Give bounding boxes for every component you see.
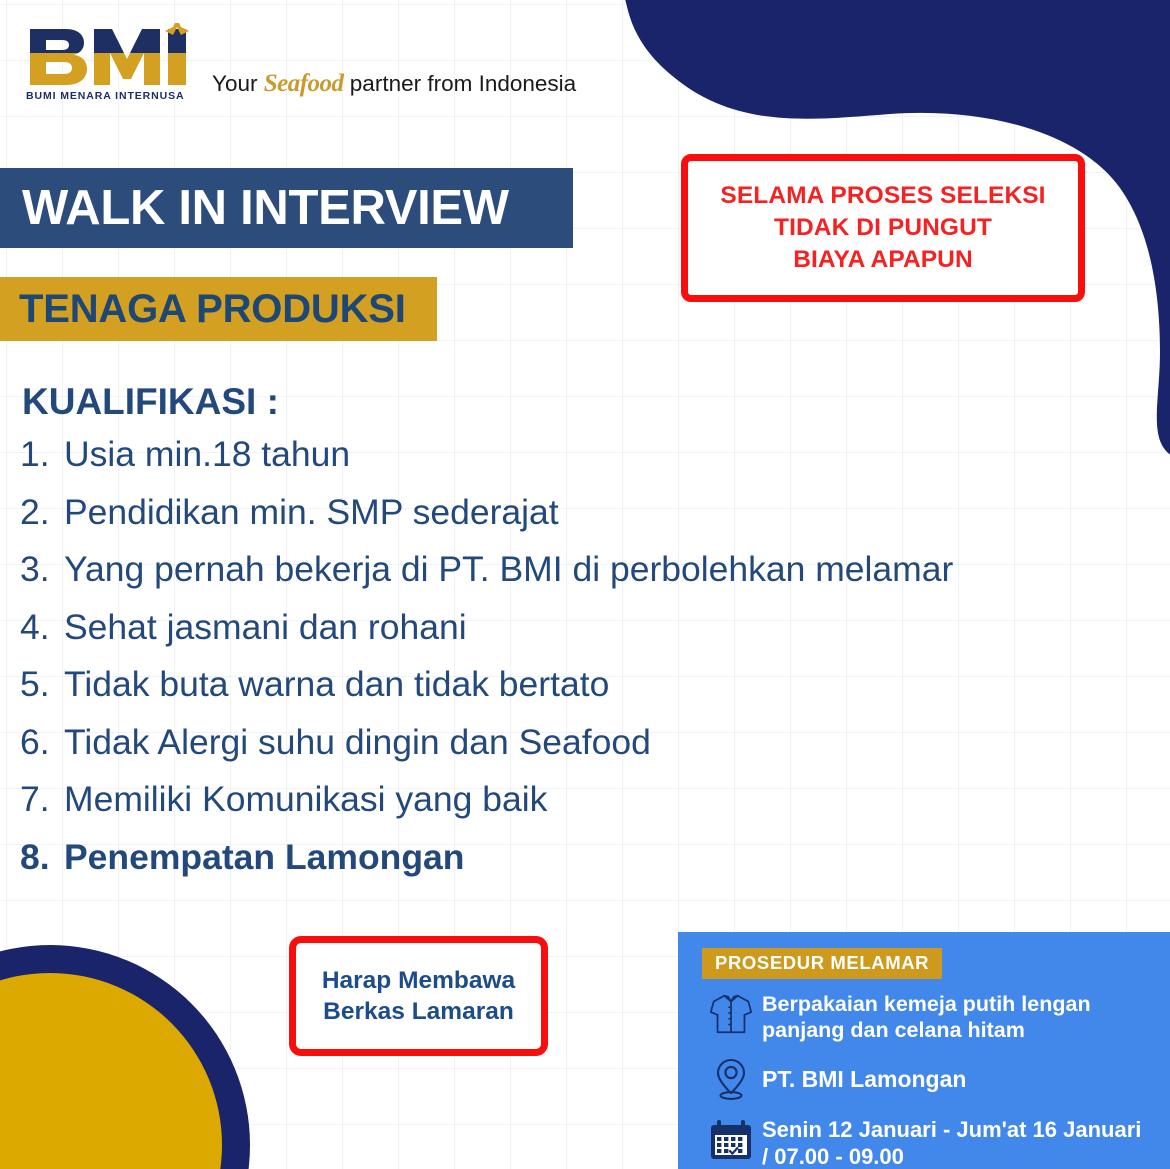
tagline-seafood: Seafood — [264, 70, 344, 97]
dresscode-line-1: Berpakaian kemeja putih lengan — [762, 991, 1091, 1017]
procedure-row-dresscode: Berpakaian kemeja putih lengan panjang d… — [692, 989, 1156, 1043]
qualification-item: 2. Pendidikan min. SMP sederajat — [20, 492, 1150, 550]
procedure-row-location: PT. BMI Lamongan — [692, 1056, 1156, 1102]
calendar-icon — [700, 1115, 762, 1163]
procedure-schedule-text: Senin 12 Januari - Jum'at 16 Januari / 0… — [762, 1115, 1141, 1169]
no-fee-notice: SELAMA PROSES SELEKSI TIDAK DI PUNGUT BI… — [681, 154, 1085, 302]
bring-documents-notice: Harap Membawa Berkas Lamaran — [289, 936, 548, 1056]
tagline-part-2: partner from Indonesia — [344, 71, 577, 96]
walk-in-interview-banner: WALK IN INTERVIEW — [0, 168, 573, 248]
brand-tagline: Your Seafood partner from Indonesia — [212, 70, 576, 98]
qualification-item: 1. Usia min.18 tahun — [20, 434, 1150, 492]
qualification-number: 5. — [20, 664, 64, 705]
qualification-text: Sehat jasmani dan rohani — [64, 607, 467, 648]
qualification-number: 7. — [20, 779, 64, 820]
qualification-text: Tidak buta warna dan tidak bertato — [64, 664, 609, 705]
qualifications-list: 1. Usia min.18 tahun 2. Pendidikan min. … — [20, 434, 1150, 894]
schedule-line-2: / 07.00 - 09.00 — [762, 1144, 1141, 1169]
procedure-location-text: PT. BMI Lamongan — [762, 1065, 966, 1093]
qualification-number: 4. — [20, 607, 64, 648]
qualification-item: 7. Memiliki Komunikasi yang baik — [20, 779, 1150, 837]
qualification-text: Penempatan Lamongan — [64, 837, 464, 878]
qualification-number: 6. — [20, 722, 64, 763]
procedure-row-schedule: Senin 12 Januari - Jum'at 16 Januari / 0… — [692, 1115, 1156, 1169]
procedure-dresscode-text: Berpakaian kemeja putih lengan panjang d… — [762, 989, 1091, 1043]
location-line-1: PT. BMI Lamongan — [762, 1065, 966, 1093]
qualification-item: 8. Penempatan Lamongan — [20, 837, 1150, 895]
bring-documents-line-1: Harap Membawa — [322, 965, 515, 996]
qualification-text: Pendidikan min. SMP sederajat — [64, 492, 559, 533]
procedure-title: PROSEDUR MELAMAR — [702, 948, 942, 979]
qualification-number: 2. — [20, 492, 64, 533]
no-fee-line-3: BIAYA APAPUN — [793, 244, 973, 276]
bmi-logo-mark — [26, 23, 194, 89]
tagline-part-1: Your — [212, 71, 264, 96]
qualification-item: 6. Tidak Alergi suhu dingin dan Seafood — [20, 722, 1150, 780]
qualification-number: 1. — [20, 434, 64, 475]
application-procedure-panel: PROSEDUR MELAMAR Berpakaian kemeja putih… — [678, 932, 1170, 1169]
qualification-number: 3. — [20, 549, 64, 590]
schedule-line-1: Senin 12 Januari - Jum'at 16 Januari — [762, 1117, 1141, 1144]
bmi-logo: BUMI MENARA INTERNUSA — [26, 23, 196, 102]
qualification-text: Tidak Alergi suhu dingin dan Seafood — [64, 722, 651, 763]
poster-header: BUMI MENARA INTERNUSA Your Seafood partn… — [0, 0, 620, 128]
position-banner: TENAGA PRODUKSI — [0, 277, 437, 341]
qualification-text: Yang pernah bekerja di PT. BMI di perbol… — [64, 549, 953, 590]
dresscode-line-2: panjang dan celana hitam — [762, 1017, 1091, 1043]
no-fee-line-2: TIDAK DI PUNGUT — [774, 212, 992, 244]
bring-documents-line-2: Berkas Lamaran — [323, 996, 514, 1027]
map-pin-icon — [700, 1056, 762, 1102]
qualification-item: 5. Tidak buta warna dan tidak bertato — [20, 664, 1150, 722]
qualification-number: 8. — [20, 837, 64, 878]
bmi-logo-subtitle: BUMI MENARA INTERNUSA — [26, 90, 196, 102]
no-fee-line-1: SELAMA PROSES SELEKSI — [720, 180, 1045, 212]
qualifications-heading: KUALIFIKASI : — [22, 381, 279, 423]
qualification-item: 4. Sehat jasmani dan rohani — [20, 607, 1150, 665]
banner-secondary-label: TENAGA PRODUKSI — [0, 287, 406, 332]
qualification-text: Memiliki Komunikasi yang baik — [64, 779, 547, 820]
shirt-icon — [700, 989, 762, 1039]
qualification-text: Usia min.18 tahun — [64, 434, 350, 475]
qualification-item: 3. Yang pernah bekerja di PT. BMI di per… — [20, 549, 1150, 607]
recruitment-poster: BUMI MENARA INTERNUSA Your Seafood partn… — [0, 0, 1170, 1169]
banner-primary-label: WALK IN INTERVIEW — [0, 180, 509, 236]
